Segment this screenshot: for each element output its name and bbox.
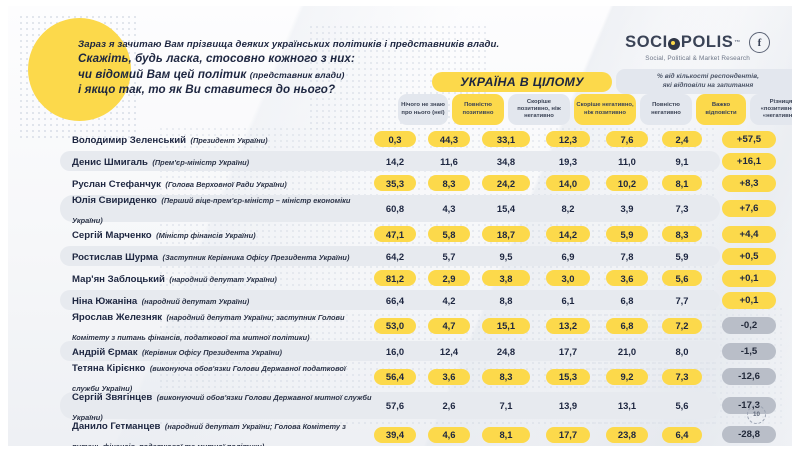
value-cell-3: 24,8: [482, 343, 530, 359]
table-row: Володимир Зеленський (Президент України)…: [24, 128, 776, 150]
value-cell-5: 13,1: [606, 398, 648, 414]
politician-name: Ярослав Железняк: [72, 312, 162, 323]
value-cells: 16,012,424,817,721,08,0-1,5: [374, 343, 776, 360]
value-cells: 39,44,68,117,723,86,4-28,8: [374, 426, 776, 443]
difference-badge: +8,3: [722, 175, 776, 192]
table-row: Мар'ян Заблоцький (народний депутат Укра…: [24, 267, 776, 289]
value-cell-6: 5,6: [662, 270, 702, 286]
value-cell-6: 6,4: [662, 427, 702, 443]
politician-name-cell: Мар'ян Заблоцький (народний депутат Укра…: [24, 268, 374, 288]
value-cells: 81,22,93,83,03,65,6+0,1: [374, 270, 776, 287]
ratings-table: Володимир Зеленський (Президент України)…: [24, 128, 776, 446]
logo-name-left: SOCI: [625, 33, 668, 52]
value-cell-4: 13,2: [546, 318, 590, 334]
value-cell-1: 81,2: [374, 270, 416, 286]
difference-badge: +0,5: [722, 248, 776, 265]
logo-wordmark: SOCI POLIS ™: [625, 33, 741, 52]
value-cell-2: 44,3: [428, 131, 470, 147]
value-cell-3: 33,1: [482, 131, 530, 147]
percentage-note-line-1: % від кількості респондентів,: [622, 73, 792, 82]
value-cell-2: 5,7: [428, 248, 470, 264]
value-cells: 56,43,68,315,39,27,3-12,6: [374, 368, 776, 385]
difference-badge: -12,6: [722, 368, 776, 385]
value-cell-3: 3,8: [482, 270, 530, 286]
table-row: Сергій Марченко (Міністр фінансів Україн…: [24, 223, 776, 245]
value-cell-1: 16,0: [374, 343, 416, 359]
politician-title: (Міністр фінансів України): [156, 231, 255, 240]
question-line-3-sub: (представник влади): [250, 70, 345, 80]
difference-badge: +57,5: [722, 131, 776, 148]
value-cell-5: 6,8: [606, 292, 648, 308]
question-line-4: і якщо так, то як Ви ставитеся до нього?: [78, 82, 423, 97]
value-cell-2: 11,6: [428, 153, 470, 169]
politician-name: Володимир Зеленський: [72, 135, 186, 146]
difference-badge: +7,6: [722, 200, 776, 217]
difference-badge: +0,1: [722, 292, 776, 309]
politician-title: (Заступник Керівника Офісу Президента Ук…: [163, 253, 350, 262]
politician-title: (Прем'єр-міністр України): [152, 158, 249, 167]
value-cell-6: 9,1: [662, 153, 702, 169]
column-header-4: Скоріше негативно, ніж позитивно: [574, 94, 636, 125]
value-cell-1: 56,4: [374, 369, 416, 385]
percentage-note: % від кількості респондентів, які відпов…: [616, 69, 792, 94]
table-row: Денис Шмигаль (Прем'єр-міністр України)1…: [24, 150, 776, 172]
value-cell-1: 47,1: [374, 226, 416, 242]
value-cells: 57,62,67,113,913,15,6-17,3: [374, 397, 776, 414]
value-cell-4: 13,9: [546, 398, 590, 414]
value-cell-2: 4,3: [428, 201, 470, 217]
section-banner: УКРАЇНА В ЦІЛОМУ: [432, 72, 612, 92]
value-cell-6: 7,2: [662, 318, 702, 334]
value-cell-1: 57,6: [374, 398, 416, 414]
question-line-3-main: чи відомий Вам цей політик: [78, 68, 246, 81]
value-cell-2: 12,4: [428, 343, 470, 359]
politician-name: Мар'ян Заблоцький: [72, 274, 165, 285]
politician-name-cell: Ярослав Железняк (народний депутат Украї…: [24, 306, 374, 345]
table-row: Ярослав Железняк (народний депутат Украї…: [24, 311, 776, 340]
value-cells: 64,25,79,56,97,85,9+0,5: [374, 248, 776, 265]
politician-title: (Президент України): [191, 136, 268, 145]
value-cell-4: 14,0: [546, 175, 590, 191]
value-cell-1: 35,3: [374, 175, 416, 191]
value-cell-2: 4,2: [428, 292, 470, 308]
value-cell-2: 8,3: [428, 175, 470, 191]
value-cell-2: 4,7: [428, 318, 470, 334]
value-cells: 53,04,715,113,26,87,2-0,2: [374, 317, 776, 334]
value-cell-1: 66,4: [374, 292, 416, 308]
value-cell-4: 6,9: [546, 248, 590, 264]
facebook-icon[interactable]: f: [749, 32, 770, 53]
value-cells: 60,84,315,48,23,97,3+7,6: [374, 200, 776, 217]
column-header-5: Повністю негативно: [640, 94, 692, 125]
difference-badge: -0,2: [722, 317, 776, 334]
value-cell-3: 9,5: [482, 248, 530, 264]
value-cell-3: 8,8: [482, 292, 530, 308]
politician-name-cell: Юлія Свириденко (Перший віце-прем'єр-мін…: [24, 189, 374, 228]
value-cell-6: 7,3: [662, 201, 702, 217]
question-line-3: чи відомий Вам цей політик (представник …: [78, 67, 423, 82]
politician-title: (Керівник Офісу Президента України): [142, 348, 282, 357]
value-cell-5: 10,2: [606, 175, 648, 191]
value-cell-5: 21,0: [606, 343, 648, 359]
value-cell-5: 5,9: [606, 226, 648, 242]
value-cell-6: 8,3: [662, 226, 702, 242]
politician-name: Ростислав Шурма: [72, 252, 158, 263]
value-cell-6: 5,6: [662, 398, 702, 414]
value-cells: 35,38,324,214,010,28,1+8,3: [374, 175, 776, 192]
value-cell-2: 2,6: [428, 398, 470, 414]
politician-name: Сергій Марченко: [72, 230, 152, 241]
trademark-symbol: ™: [734, 40, 741, 46]
slide-canvas: Зараз я зачитаю Вам прізвища деяких укра…: [8, 6, 792, 446]
politician-name: Юлія Свириденко: [72, 195, 157, 206]
value-cell-2: 2,9: [428, 270, 470, 286]
column-headers: Нічого не знаю про нього (неї)Повністю п…: [398, 94, 792, 126]
politician-name: Тетяна Кірієнко: [72, 363, 145, 374]
survey-question-block: Зараз я зачитаю Вам прізвища деяких укра…: [78, 39, 423, 97]
value-cell-5: 3,9: [606, 201, 648, 217]
slide-stage: Зараз я зачитаю Вам прізвища деяких укра…: [0, 0, 800, 452]
value-cell-6: 5,9: [662, 248, 702, 264]
politician-name-cell: Володимир Зеленський (Президент України): [24, 129, 374, 149]
politician-title: (Голова Верховної Ради України): [165, 180, 286, 189]
value-cell-6: 7,7: [662, 292, 702, 308]
difference-badge: +4,4: [722, 226, 776, 243]
table-row: Данило Гетманцев (народний депутат Украї…: [24, 420, 776, 446]
value-cell-3: 15,1: [482, 318, 530, 334]
difference-badge: +16,1: [722, 153, 776, 170]
value-cell-4: 8,2: [546, 201, 590, 217]
value-cell-1: 39,4: [374, 427, 416, 443]
value-cell-4: 3,0: [546, 270, 590, 286]
value-cell-2: 4,6: [428, 427, 470, 443]
politician-title: (народний депутат України): [169, 275, 276, 284]
column-header-2: Повністю позитивно: [452, 94, 504, 125]
question-line-2: Скажіть, будь ласка, стосовно кожного з …: [78, 51, 423, 66]
value-cell-4: 15,3: [546, 369, 590, 385]
column-header-7: Різниця «позитивно» і «негативно»: [750, 94, 792, 125]
difference-badge: -28,8: [722, 426, 776, 443]
value-cell-3: 24,2: [482, 175, 530, 191]
value-cells: 0,344,333,112,37,62,4+57,5: [374, 131, 776, 148]
politician-name: Сергій Звягінцев: [72, 392, 152, 403]
value-cell-3: 7,1: [482, 398, 530, 414]
value-cell-3: 34,8: [482, 153, 530, 169]
value-cell-1: 14,2: [374, 153, 416, 169]
value-cell-6: 8,1: [662, 175, 702, 191]
value-cell-6: 8,0: [662, 343, 702, 359]
value-cell-4: 19,3: [546, 153, 590, 169]
table-row: Юлія Свириденко (Перший віце-прем'єр-мін…: [24, 194, 776, 223]
column-header-6: Важко відповісти: [696, 94, 746, 125]
politician-title: (народний депутат України): [142, 297, 249, 306]
value-cell-2: 3,6: [428, 369, 470, 385]
value-cell-5: 6,8: [606, 318, 648, 334]
value-cells: 66,44,28,86,16,87,7+0,1: [374, 292, 776, 309]
column-header-3: Скоріше позитивно, ніж негативно: [508, 94, 570, 125]
logo-tagline: Social, Political & Market Research: [625, 55, 770, 62]
page-number: 10: [747, 405, 766, 424]
column-header-1: Нічого не знаю про нього (неї): [398, 94, 448, 125]
value-cell-6: 7,3: [662, 369, 702, 385]
value-cell-2: 5,8: [428, 226, 470, 242]
value-cell-3: 18,7: [482, 226, 530, 242]
value-cell-4: 17,7: [546, 343, 590, 359]
eye-icon: [668, 38, 680, 50]
politician-name-cell: Данило Гетманцев (народний депутат Украї…: [24, 415, 374, 446]
value-cell-5: 9,2: [606, 369, 648, 385]
value-cell-3: 15,4: [482, 201, 530, 217]
value-cell-4: 6,1: [546, 292, 590, 308]
value-cells: 14,211,634,819,311,09,1+16,1: [374, 153, 776, 170]
logo-row: SOCI POLIS ™ f: [625, 32, 770, 53]
logo-name-right: POLIS: [681, 33, 734, 52]
value-cell-1: 64,2: [374, 248, 416, 264]
value-cell-4: 12,3: [546, 131, 590, 147]
question-line-1: Зараз я зачитаю Вам прізвища деяких укра…: [78, 39, 423, 51]
table-row: Ростислав Шурма (Заступник Керівника Офі…: [24, 245, 776, 267]
difference-badge: -1,5: [722, 343, 776, 360]
value-cell-4: 17,7: [546, 427, 590, 443]
value-cell-6: 2,4: [662, 131, 702, 147]
value-cell-4: 14,2: [546, 226, 590, 242]
value-cell-1: 0,3: [374, 131, 416, 147]
politician-name: Данило Гетманцев: [72, 421, 160, 432]
politician-name: Денис Шмигаль: [72, 157, 148, 168]
value-cell-5: 11,0: [606, 153, 648, 169]
politician-name-cell: Ростислав Шурма (Заступник Керівника Офі…: [24, 246, 374, 266]
value-cell-3: 8,1: [482, 427, 530, 443]
value-cell-5: 3,6: [606, 270, 648, 286]
politician-name-cell: Денис Шмигаль (Прем'єр-міністр України): [24, 151, 374, 171]
difference-badge: +0,1: [722, 270, 776, 287]
value-cell-5: 7,6: [606, 131, 648, 147]
value-cell-1: 60,8: [374, 201, 416, 217]
value-cell-5: 7,8: [606, 248, 648, 264]
percentage-note-line-2: які відповіли на запитання: [622, 82, 792, 91]
value-cells: 47,15,818,714,25,98,3+4,4: [374, 226, 776, 243]
sociopolis-logo: SOCI POLIS ™ f Social, Political & Marke…: [625, 32, 770, 62]
value-cell-1: 53,0: [374, 318, 416, 334]
politician-name-cell: Сергій Марченко (Міністр фінансів Україн…: [24, 224, 374, 244]
value-cell-5: 23,8: [606, 427, 648, 443]
value-cell-3: 8,3: [482, 369, 530, 385]
